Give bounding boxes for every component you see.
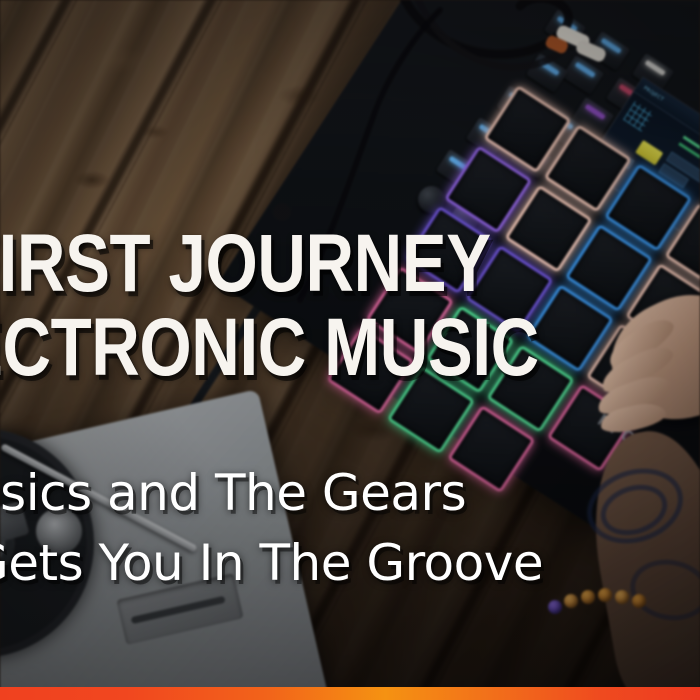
- bracelet-bead: [548, 600, 562, 614]
- bracelet-bead: [615, 590, 629, 604]
- video-thumbnail: PROJECT Sequence: [0, 0, 700, 700]
- bracelet-bead: [598, 588, 612, 602]
- bracelet-bead: [564, 594, 578, 608]
- subheading-line-2: Gets You In The Groove: [0, 538, 543, 588]
- bracelet-bead: [581, 590, 595, 604]
- headline-line-2: ECTRONIC MUSIC: [0, 310, 539, 385]
- bottom-accent-bar: [0, 687, 700, 700]
- headline-line-1: FIRST JOURNEY: [0, 226, 491, 301]
- bracelet-bead: [632, 594, 646, 608]
- subheading-line-1: asics and The Gears: [0, 468, 466, 518]
